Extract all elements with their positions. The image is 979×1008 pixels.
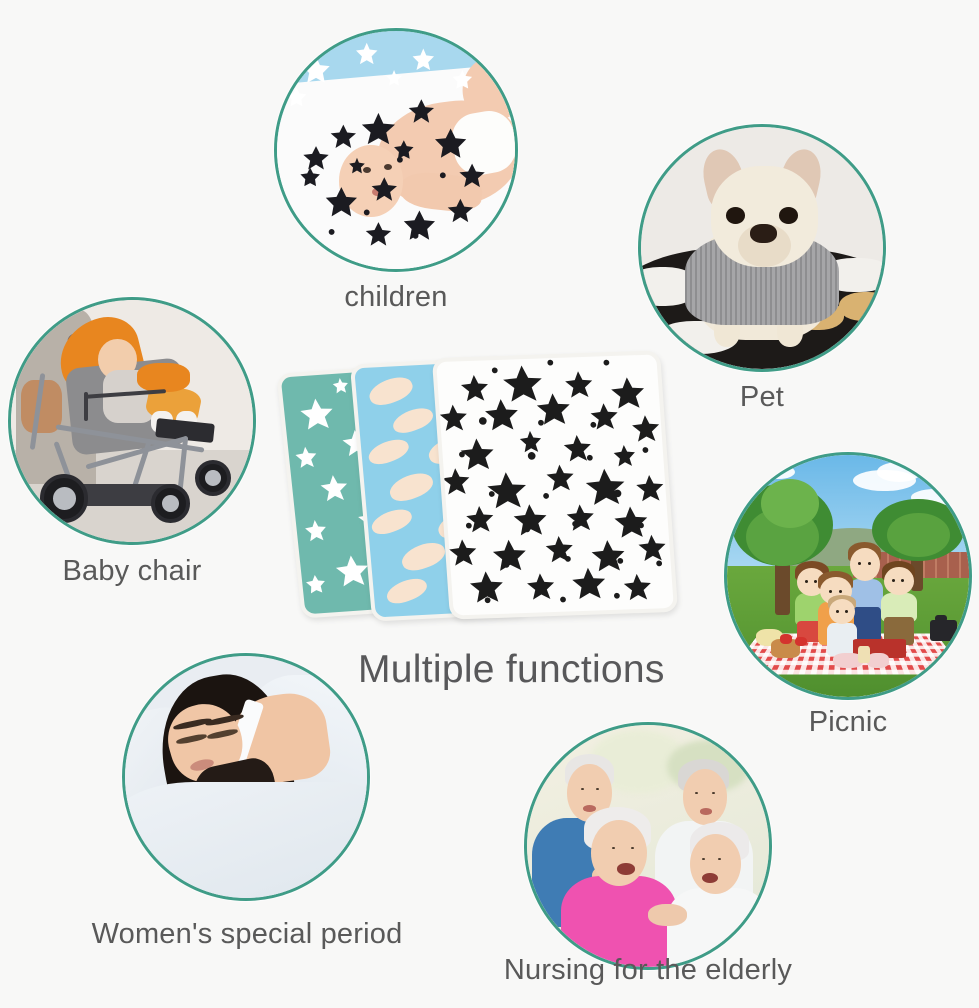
elderly-person: [667, 822, 769, 967]
use-case-photo-nursing-elderly: [524, 722, 772, 970]
use-case-label-nursing-elderly: Nursing for the elderly: [470, 956, 826, 985]
elderly-person: [561, 807, 677, 967]
product-infographic: children Pet: [0, 0, 979, 1008]
picnic-photo: [727, 455, 969, 697]
product-image-changing-mats: [283, 352, 698, 622]
black-star-pattern-icon: [436, 354, 674, 615]
use-case-photo-baby-chair: [8, 297, 256, 545]
use-case-label-womens-special-period: Women's special period: [52, 920, 442, 949]
use-case-label-children: children: [274, 283, 518, 312]
nursing-elderly-photo: [527, 725, 769, 967]
use-case-label-baby-chair: Baby chair: [8, 557, 256, 586]
page-title: Multiple functions: [358, 650, 665, 689]
use-case-photo-picnic: [724, 452, 972, 700]
use-case-photo-children: [274, 28, 518, 272]
pet-photo: [641, 127, 883, 369]
use-case-photo-womens-special-period: [122, 653, 370, 901]
children-photo: [277, 31, 515, 269]
womens-special-period-photo: [125, 656, 367, 898]
use-case-photo-pet: [638, 124, 886, 372]
picnic-doll: [877, 561, 921, 648]
baby-chair-photo: [11, 300, 253, 542]
product-mat-white: [432, 350, 678, 619]
